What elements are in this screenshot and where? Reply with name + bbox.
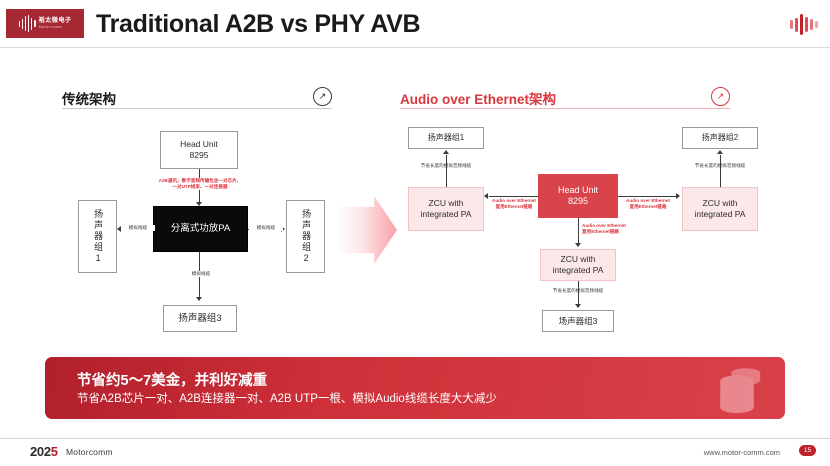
node-left-amplifier: 分离式功放PA bbox=[153, 206, 248, 252]
node-left-speaker-3: 扬声器组3 bbox=[163, 305, 237, 332]
node-label-line2: integrated PA bbox=[695, 209, 746, 220]
slide-header: 裕太微电子 Motorcomm Traditional A2B vs PHY A… bbox=[0, 0, 830, 47]
label-line1: Audio over Ethernet bbox=[626, 198, 670, 203]
connector-arrow bbox=[575, 304, 581, 308]
node-right-speaker-2: 扬声器组2 bbox=[682, 127, 758, 149]
node-label-line2: 8295 bbox=[190, 150, 209, 161]
right-panel-title: Audio over Ethernet架构 bbox=[400, 88, 730, 108]
node-left-head-unit: Head Unit 8295 bbox=[160, 131, 238, 169]
connector-arrow bbox=[443, 150, 449, 154]
node-label-line1: ZCU with bbox=[429, 198, 464, 209]
logo-name-en: Motorcomm bbox=[39, 26, 62, 30]
label-save-bottom: 节省长度的模拟音频线缆 bbox=[528, 288, 628, 294]
node-label-line2: integrated PA bbox=[553, 265, 604, 276]
node-right-zcu-right: ZCU with integrated PA bbox=[682, 187, 758, 231]
label-line2: 复用Ethernet链路 bbox=[582, 229, 619, 234]
company-logo: 裕太微电子 Motorcomm bbox=[6, 9, 84, 38]
arrow-up-right-icon[interactable]: ↗ bbox=[711, 87, 730, 106]
node-label-line2: 8295 bbox=[568, 196, 588, 207]
transition-arrow-icon bbox=[337, 196, 397, 264]
arrow-up-right-icon[interactable]: ↗ bbox=[313, 87, 332, 106]
left-panel-header: 传统架构 ↗ bbox=[62, 88, 332, 110]
node-right-zcu-left: ZCU with integrated PA bbox=[408, 187, 484, 231]
database-icon bbox=[715, 365, 767, 413]
footer-year-suffix: 5 bbox=[51, 444, 58, 459]
banner-heading: 节省约5～7美金，并利好减重 bbox=[77, 369, 267, 390]
label-line1: Audio over Ethernet bbox=[492, 198, 536, 203]
footer-year-prefix: 202 bbox=[30, 444, 51, 459]
footer-url[interactable]: www.motor-comm.com bbox=[704, 448, 780, 457]
label-analog-down: 模拟线缆 bbox=[183, 271, 219, 277]
connector-line bbox=[720, 155, 721, 187]
left-panel-title: 传统架构 bbox=[62, 88, 332, 108]
node-label-line1: ZCU with bbox=[703, 198, 738, 209]
node-right-speaker-3: 场声器组3 bbox=[542, 310, 614, 332]
label-a2b-note: A2B通讯，数字音频传输包含一对芯片、 一对UTP线束、一对连接器 bbox=[134, 178, 266, 190]
label-line2: 复用Ethernet链路 bbox=[495, 204, 532, 209]
node-right-head-unit: Head Unit 8295 bbox=[538, 174, 618, 218]
footer-divider bbox=[0, 438, 830, 439]
footer-brand: Motorcomm bbox=[66, 447, 113, 457]
node-label-line2: integrated PA bbox=[421, 209, 472, 220]
connector-line bbox=[578, 218, 579, 246]
brand-waveform-icon bbox=[790, 14, 818, 35]
node-label-line1: Head Unit bbox=[180, 139, 218, 150]
label-line2: 复用Ethernet链路 bbox=[629, 204, 666, 209]
connector-line bbox=[618, 196, 677, 197]
footer-year: 2025 bbox=[30, 444, 58, 459]
node-label-line1: ZCU with bbox=[561, 254, 596, 265]
connector-arrow bbox=[196, 297, 202, 301]
label-aoe-down: Audio over Ethernet 复用Ethernet链路 bbox=[582, 223, 648, 235]
node-left-speaker-1: 扬声器组1 bbox=[78, 200, 117, 273]
label-line1: Audio over Ethernet bbox=[582, 223, 626, 228]
slide-root: 裕太微电子 Motorcomm Traditional A2B vs PHY A… bbox=[0, 0, 830, 466]
label-save-left: 节省长度的模拟音频线缆 bbox=[396, 163, 496, 169]
label-analog-right: 模拟线缆 bbox=[249, 225, 283, 231]
logo-wordmark: 裕太微电子 Motorcomm bbox=[39, 18, 72, 29]
right-panel-header: Audio over Ethernet架构 ↗ bbox=[400, 88, 730, 110]
savings-banner: 节省约5～7美金，并利好减重 节省A2B芯片一对、A2B连接器一对、A2B UT… bbox=[45, 357, 785, 419]
logo-name-cn: 裕太微电子 bbox=[39, 18, 72, 24]
header-divider bbox=[0, 47, 830, 48]
node-label-line1: Head Unit bbox=[558, 185, 598, 196]
label-aoe-right: Audio over Ethernet 复用Ethernet链路 bbox=[617, 198, 679, 210]
label-save-right: 节省长度的模拟音频线缆 bbox=[670, 163, 770, 169]
label-line1: A2B通讯，数字音频传输包含一对芯片、 bbox=[159, 178, 242, 183]
banner-subheading: 节省A2B芯片一对、A2B连接器一对、A2B UTP一根、模拟Audio线缆长度… bbox=[77, 390, 497, 406]
connector-arrow bbox=[717, 150, 723, 154]
connector-line bbox=[446, 155, 447, 187]
label-analog-left: 模拟线缆 bbox=[121, 225, 155, 231]
label-line2: 一对UTP线束、一对连接器 bbox=[172, 184, 227, 189]
page-title: Traditional A2B vs PHY AVB bbox=[96, 10, 420, 39]
node-right-zcu-bottom: ZCU with integrated PA bbox=[540, 249, 616, 281]
connector-line bbox=[489, 196, 538, 197]
label-aoe-left: Audio over Ethernet 复用Ethernet链路 bbox=[483, 198, 545, 210]
waveform-icon bbox=[19, 15, 36, 32]
node-right-speaker-1: 扬声器组1 bbox=[408, 127, 484, 149]
connector-arrow bbox=[575, 243, 581, 247]
page-number-badge: 15 bbox=[799, 445, 816, 456]
node-left-speaker-2: 扬声器组2 bbox=[286, 200, 325, 273]
